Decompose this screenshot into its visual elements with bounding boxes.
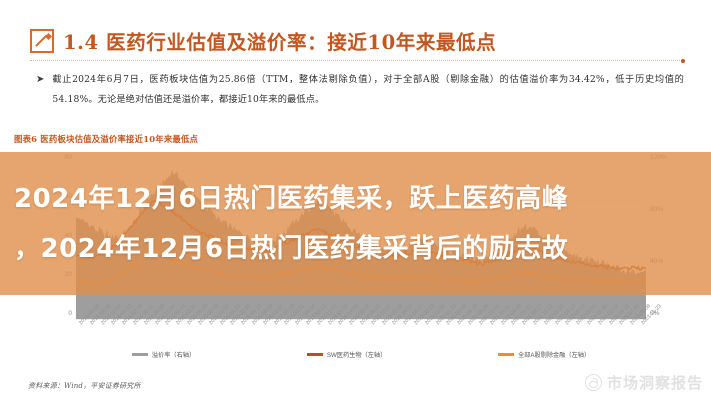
banner-headline-line-1: 2024年12月6日热门医药集采，跃上医药高峰 bbox=[14, 174, 697, 224]
source-note: 资料来源：Wind，平安证券研究所 bbox=[28, 381, 141, 391]
legend-item-premium[interactable]: 溢价率（右轴） bbox=[132, 350, 195, 359]
legend-swatch-icon bbox=[307, 353, 323, 356]
y-axis-tick-left-0: 0 bbox=[46, 310, 72, 317]
watermark-label: 市场洞察报告 bbox=[607, 372, 703, 393]
legend-swatch-icon bbox=[498, 353, 514, 356]
page-title: 1.4 医药行业估值及溢价率：接近10年来最低点 bbox=[63, 26, 496, 55]
legend-label-all-a: 全部A股剔除金融（左轴） bbox=[518, 350, 590, 359]
watermark: 市场洞察报告 bbox=[585, 372, 703, 393]
bullet-marker-icon: ➤ bbox=[36, 70, 44, 89]
legend-label-premium: 溢价率（右轴） bbox=[152, 350, 195, 359]
legend-swatch-icon bbox=[132, 353, 148, 356]
legend-item-all-a[interactable]: 全部A股剔除金融（左轴） bbox=[498, 350, 590, 359]
legend-label-sw-pharma: SW医药生物（左轴） bbox=[327, 350, 386, 359]
weibo-icon bbox=[585, 374, 602, 391]
chart-legend: 溢价率（右轴） SW医药生物（左轴） 全部A股剔除金融（左轴） bbox=[76, 350, 646, 359]
slide-page: 1.4 医药行业估值及溢价率：接近10年来最低点 ➤ 截止2024年6月7日，医… bbox=[0, 0, 711, 400]
slide-title-row: 1.4 医药行业估值及溢价率：接近10年来最低点 bbox=[30, 26, 496, 55]
title-divider bbox=[30, 60, 682, 61]
headline-banner-overlay: 2024年12月6日热门医药集采，跃上医药高峰 ，2024年12月6日热门医药集… bbox=[0, 152, 711, 295]
figure-caption: 图表6 医药板块估值及溢价率接近10年来最低点 bbox=[14, 133, 198, 145]
legend-item-sw-pharma[interactable]: SW医药生物（左轴） bbox=[307, 350, 386, 359]
bullet-text: 截止2024年6月7日，医药板块估值为25.86倍（TTM，整体法剔除负值），对… bbox=[52, 70, 684, 110]
bullet-line: ➤ 截止2024年6月7日，医药板块估值为25.86倍（TTM，整体法剔除负值）… bbox=[36, 70, 684, 110]
pencil-square-icon bbox=[30, 29, 54, 53]
bullet-block: ➤ 截止2024年6月7日，医药板块估值为25.86倍（TTM，整体法剔除负值）… bbox=[36, 70, 684, 110]
banner-headline-line-2: ，2024年12月6日热门医药集采背后的励志故 bbox=[14, 224, 697, 274]
